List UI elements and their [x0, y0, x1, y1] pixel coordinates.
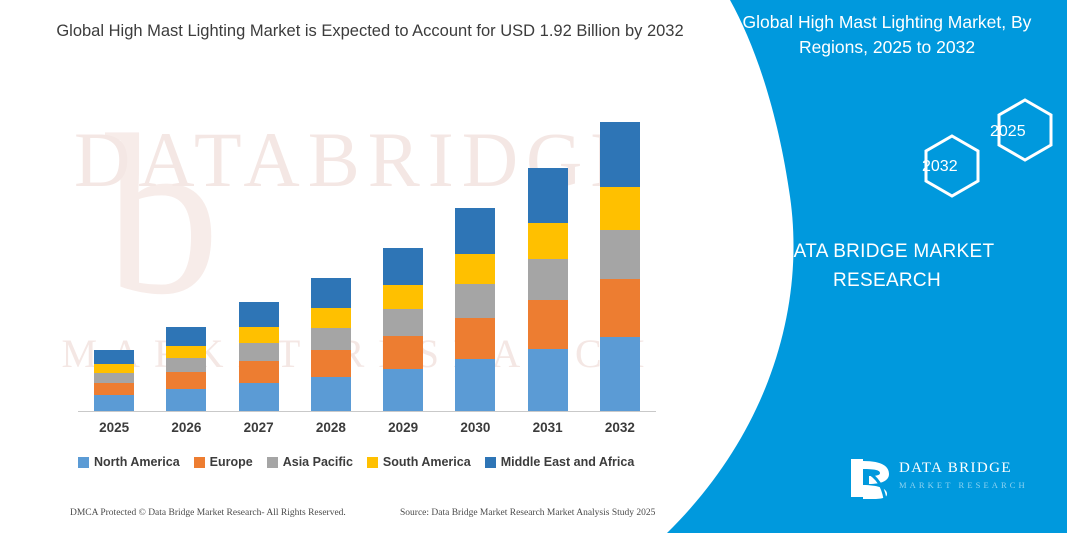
- bar-column: [150, 100, 222, 411]
- bar-segment: [94, 395, 134, 411]
- legend-item[interactable]: Asia Pacific: [267, 455, 353, 469]
- bar-segment: [383, 369, 423, 411]
- legend-label: Europe: [210, 455, 253, 469]
- stacked-bar[interactable]: [166, 327, 206, 411]
- bar-segment: [239, 361, 279, 383]
- x-axis-tick-label: 2028: [295, 420, 367, 435]
- stacked-bar[interactable]: [239, 302, 279, 411]
- panel-brand-line-1: DATA BRIDGE MARKET: [727, 238, 1047, 267]
- bar-segment: [311, 278, 351, 308]
- bar-segment: [311, 350, 351, 377]
- logo-name: DATA BRIDGE: [899, 460, 1012, 477]
- bar-column: [78, 100, 150, 411]
- bar-segment: [600, 279, 640, 337]
- bar-segment: [455, 359, 495, 411]
- stacked-bar[interactable]: [311, 278, 351, 411]
- page-title: Global High Mast Lighting Market is Expe…: [40, 18, 700, 44]
- hex-label-2032: 2032: [922, 158, 958, 176]
- legend-label: Asia Pacific: [283, 455, 353, 469]
- chart-legend: North AmericaEuropeAsia PacificSouth Ame…: [78, 455, 678, 469]
- panel-title: Global High Mast Lighting Market, By Reg…: [727, 10, 1047, 61]
- bar-segment: [166, 346, 206, 358]
- infographic-root: b DATABRIDGE MARKET RESEARCH Global High…: [0, 0, 1067, 533]
- bar-segment: [94, 350, 134, 364]
- x-axis-tick-label: 2031: [512, 420, 584, 435]
- stacked-bar[interactable]: [600, 122, 640, 411]
- legend-swatch-icon: [367, 457, 378, 468]
- bar-column: [439, 100, 511, 411]
- right-panel: Global High Mast Lighting Market, By Reg…: [667, 0, 1067, 533]
- bar-column: [295, 100, 367, 411]
- bar-segment: [383, 336, 423, 369]
- stacked-bar[interactable]: [455, 208, 495, 411]
- bar-segment: [600, 230, 640, 279]
- legend-item[interactable]: South America: [367, 455, 471, 469]
- bar-segment: [600, 187, 640, 230]
- x-axis-tick-label: 2032: [584, 420, 656, 435]
- legend-item[interactable]: Middle East and Africa: [485, 455, 635, 469]
- bar-segment: [528, 168, 568, 223]
- legend-item[interactable]: Europe: [194, 455, 253, 469]
- bar-segment: [311, 377, 351, 411]
- bar-segment: [455, 318, 495, 359]
- legend-label: South America: [383, 455, 471, 469]
- x-axis-tick-label: 2025: [78, 420, 150, 435]
- hex-label-2025: 2025: [990, 123, 1026, 141]
- x-axis-line: [78, 411, 656, 412]
- bar-column: [584, 100, 656, 411]
- legend-swatch-icon: [194, 457, 205, 468]
- bar-segment: [94, 364, 134, 373]
- bar-segment: [94, 383, 134, 395]
- chart-plot-area: [78, 100, 656, 412]
- bar-segment: [528, 300, 568, 349]
- x-axis-tick-label: 2026: [150, 420, 222, 435]
- panel-brand-text: DATA BRIDGE MARKET RESEARCH: [727, 238, 1047, 295]
- bar-segment: [239, 383, 279, 411]
- stacked-bar[interactable]: [94, 350, 134, 411]
- x-axis-tick-label: 2030: [439, 420, 511, 435]
- bar-segment: [166, 358, 206, 372]
- bar-segment: [311, 328, 351, 350]
- hexagon-group: 2025 2032: [777, 96, 1057, 211]
- bar-column: [367, 100, 439, 411]
- x-axis-tick-label: 2027: [223, 420, 295, 435]
- x-axis-tick-label: 2029: [367, 420, 439, 435]
- bar-segment: [166, 327, 206, 346]
- bar-segment: [600, 122, 640, 187]
- bar-segment: [239, 327, 279, 343]
- bar-segment: [383, 285, 423, 309]
- bar-column: [223, 100, 295, 411]
- bar-segment: [528, 349, 568, 411]
- bar-segment: [239, 302, 279, 327]
- data-bridge-logo-icon: [847, 455, 895, 501]
- legend-item[interactable]: North America: [78, 455, 180, 469]
- bar-segment: [455, 208, 495, 254]
- footer-copyright: DMCA Protected © Data Bridge Market Rese…: [70, 508, 346, 518]
- stacked-bars: [78, 100, 656, 411]
- logo-subtitle: MARKET RESEARCH: [899, 480, 1028, 490]
- bar-segment: [600, 337, 640, 411]
- bar-segment: [383, 248, 423, 285]
- legend-label: Middle East and Africa: [501, 455, 635, 469]
- bar-segment: [239, 343, 279, 361]
- legend-swatch-icon: [78, 457, 89, 468]
- bar-segment: [455, 254, 495, 284]
- bar-segment: [528, 223, 568, 259]
- legend-label: North America: [94, 455, 180, 469]
- bar-segment: [383, 309, 423, 336]
- bar-segment: [94, 373, 134, 383]
- legend-swatch-icon: [485, 457, 496, 468]
- panel-brand-line-2: RESEARCH: [727, 267, 1047, 296]
- logo: DATA BRIDGE MARKET RESEARCH: [847, 455, 1047, 515]
- legend-swatch-icon: [267, 457, 278, 468]
- stacked-bar[interactable]: [528, 168, 568, 411]
- footer-source: Source: Data Bridge Market Research Mark…: [400, 508, 655, 518]
- bar-column: [512, 100, 584, 411]
- hexagon-shapes: [777, 96, 1057, 211]
- bar-segment: [455, 284, 495, 318]
- stacked-bar[interactable]: [383, 248, 423, 411]
- bar-segment: [528, 259, 568, 300]
- x-axis-labels: 20252026202720282029203020312032: [78, 420, 656, 435]
- bar-segment: [166, 389, 206, 411]
- bar-segment: [166, 372, 206, 389]
- bar-segment: [311, 308, 351, 328]
